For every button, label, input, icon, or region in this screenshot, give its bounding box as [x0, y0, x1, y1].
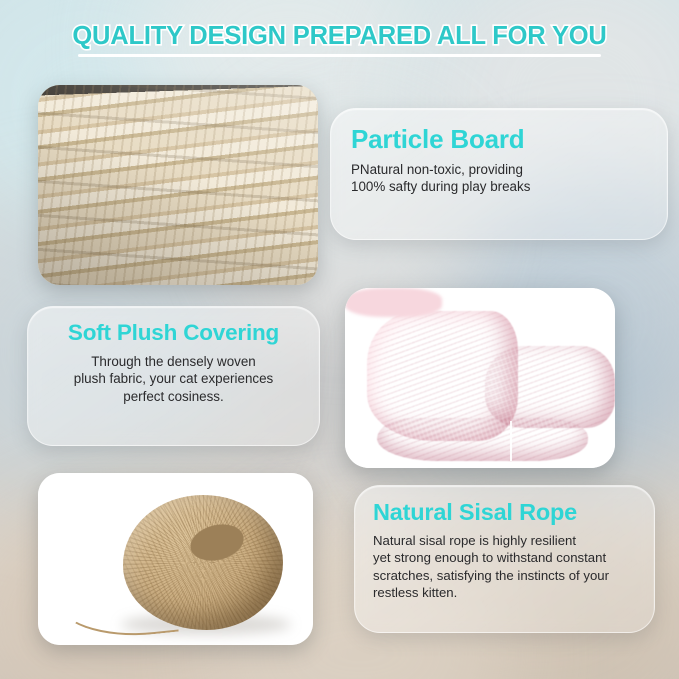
feature-heading-soft-plush-covering: Soft Plush Covering: [48, 321, 299, 346]
particle-board-photo: [38, 85, 318, 285]
plush-seam-line: [510, 421, 512, 461]
feature-body-line: 100% safty during play breaks: [351, 178, 647, 196]
feature-body-line: perfect cosiness.: [48, 388, 299, 406]
page-title: QUALITY DESIGN PREPARED ALL FOR YOU: [72, 22, 606, 51]
feature-card-particle-board: Particle Board PNatural non-toxic, provi…: [330, 108, 668, 240]
plush-fabric-photo: [345, 288, 615, 468]
product-feature-infographic: QUALITY DESIGN PREPARED ALL FOR YOU Part…: [0, 0, 679, 679]
feature-body-line: scratches, satisfying the instincts of y…: [373, 567, 636, 584]
feature-body-natural-sisal-rope: Natural sisal rope is highly resilient y…: [373, 532, 636, 602]
plush-base-strip: [377, 418, 588, 461]
sisal-rope-artwork: [38, 473, 313, 645]
plush-highlight: [345, 288, 442, 317]
feature-body-line: yet strong enough to withstand constant: [373, 549, 636, 566]
feature-body-line: Through the densely woven: [48, 353, 299, 371]
sisal-rope-photo: [38, 473, 313, 645]
feature-body-line: plush fabric, your cat experiences: [48, 370, 299, 388]
feature-body-soft-plush-covering: Through the densely woven plush fabric, …: [48, 353, 299, 406]
plush-fabric-artwork: [345, 288, 615, 468]
feature-body-line: restless kitten.: [373, 584, 636, 601]
feature-card-soft-plush-covering: Soft Plush Covering Through the densely …: [27, 306, 320, 446]
particle-board-artwork: [38, 85, 318, 285]
feature-body-line: Natural sisal rope is highly resilient: [373, 532, 636, 549]
sisal-ball-center-hole: [187, 519, 248, 566]
feature-heading-natural-sisal-rope: Natural Sisal Rope: [373, 500, 636, 526]
title-underline-rule: [78, 54, 601, 57]
feature-card-natural-sisal-rope: Natural Sisal Rope Natural sisal rope is…: [354, 485, 655, 633]
banner-title: QUALITY DESIGN PREPARED ALL FOR YOU: [0, 22, 679, 51]
feature-body-line: PNatural non-toxic, providing: [351, 161, 647, 179]
feature-body-particle-board: PNatural non-toxic, providing 100% safty…: [351, 161, 647, 196]
sisal-ball: [123, 495, 283, 629]
feature-heading-particle-board: Particle Board: [351, 125, 647, 154]
plush-fold-back: [485, 346, 615, 429]
